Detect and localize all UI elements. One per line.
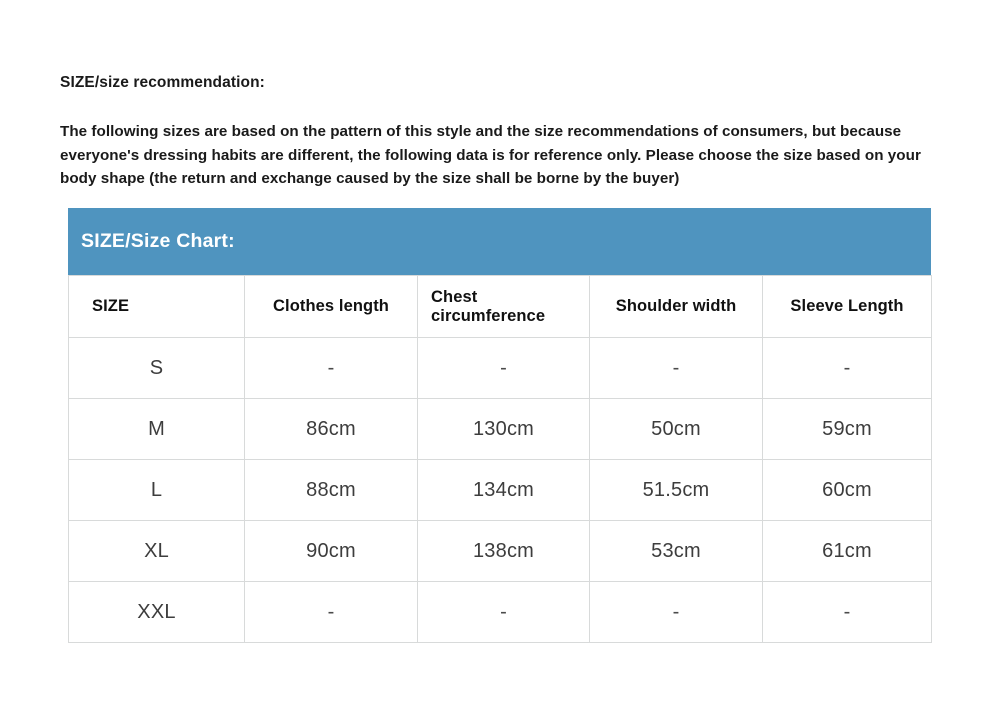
cell-clothes-length: - [245,338,418,399]
cell-sleeve-length: - [763,338,932,399]
cell-size: XXL [69,582,245,643]
cell-sleeve-length: 59cm [763,399,932,460]
size-chart-table-container: SIZE/Size Chart: SIZE Clothes length Che… [68,208,931,643]
cell-clothes-length: - [245,582,418,643]
table-row: XXL - - - - [69,582,932,643]
cell-sleeve-length: - [763,582,932,643]
column-header-sleeve-length: Sleeve Length [763,276,932,338]
cell-shoulder-width: 50cm [590,399,763,460]
size-chart-table: SIZE Clothes length Chest circumference … [68,275,932,643]
cell-size: XL [69,521,245,582]
size-chart-page: SIZE/size recommendation: The following … [0,0,1000,708]
cell-chest-circumference: 138cm [418,521,590,582]
cell-chest-circumference: - [418,582,590,643]
table-body: S - - - - M 86cm 130cm 50cm 59cm L 88cm … [69,338,932,643]
table-header: SIZE Clothes length Chest circumference … [69,276,932,338]
table-title-bar: SIZE/Size Chart: [68,208,931,275]
cell-shoulder-width: - [590,338,763,399]
cell-size: L [69,460,245,521]
column-header-clothes-length: Clothes length [245,276,418,338]
cell-sleeve-length: 61cm [763,521,932,582]
cell-clothes-length: 86cm [245,399,418,460]
cell-clothes-length: 90cm [245,521,418,582]
cell-size: M [69,399,245,460]
column-header-chest-circumference: Chest circumference [418,276,590,338]
table-row: S - - - - [69,338,932,399]
cell-shoulder-width: 51.5cm [590,460,763,521]
cell-clothes-length: 88cm [245,460,418,521]
column-header-shoulder-width: Shoulder width [590,276,763,338]
table-title: SIZE/Size Chart: [81,230,235,253]
table-row: M 86cm 130cm 50cm 59cm [69,399,932,460]
table-header-row: SIZE Clothes length Chest circumference … [69,276,932,338]
intro-paragraph: The following sizes are based on the pat… [60,120,940,191]
column-header-size: SIZE [69,276,245,338]
table-row: XL 90cm 138cm 53cm 61cm [69,521,932,582]
cell-sleeve-length: 60cm [763,460,932,521]
cell-shoulder-width: - [590,582,763,643]
cell-chest-circumference: 130cm [418,399,590,460]
cell-size: S [69,338,245,399]
intro-heading: SIZE/size recommendation: [60,74,265,92]
cell-chest-circumference: - [418,338,590,399]
cell-shoulder-width: 53cm [590,521,763,582]
table-row: L 88cm 134cm 51.5cm 60cm [69,460,932,521]
cell-chest-circumference: 134cm [418,460,590,521]
